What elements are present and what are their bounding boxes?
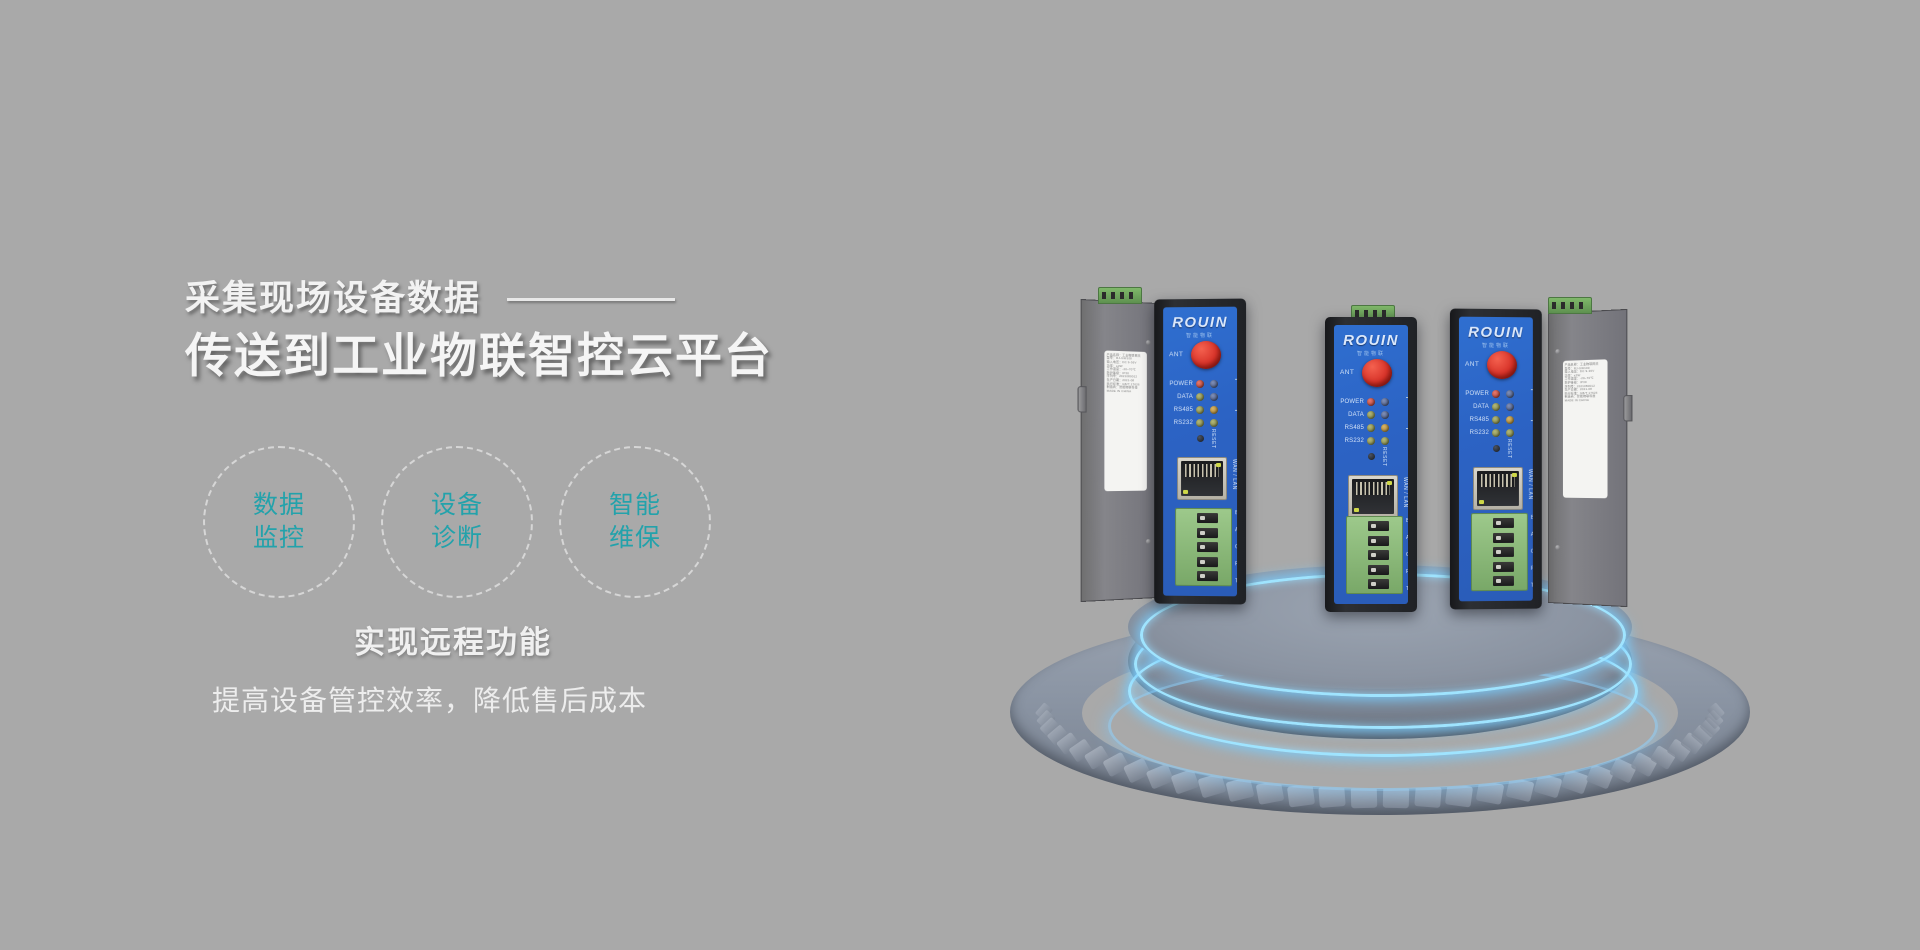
led-indicator-lamp	[1506, 403, 1514, 411]
device-blue-faceplate: ROUIN智能物联ANTPOWERDATARS485RS232STATUSRES…	[1163, 307, 1237, 597]
terminal-screw	[1368, 521, 1389, 531]
terminal-screw	[1493, 518, 1514, 528]
led-indicator-row: POWER	[1463, 387, 1520, 400]
led-indicator-lamp	[1492, 389, 1500, 397]
status-group-bracket	[1531, 389, 1533, 421]
led-indicator-row: POWER	[1338, 395, 1395, 408]
feature-circle-line1: 智能	[609, 489, 661, 522]
brand-logo: ROUIN智能物联	[1343, 332, 1399, 357]
led-indicator-row: DATA	[1338, 408, 1395, 421]
reset-button-label: RESET	[1381, 447, 1387, 467]
terminal-pin-label: A+	[1531, 532, 1533, 538]
rj45-link-led	[1354, 508, 1359, 512]
enclosure-screw	[1555, 349, 1560, 354]
device-spec-label-line: MADE IN CHINA	[1565, 399, 1606, 403]
led-indicator-lamp	[1210, 392, 1218, 400]
serial-terminal-block	[1346, 516, 1403, 594]
terminal-pin-label: TXD	[1406, 586, 1408, 592]
terminal-screw	[1493, 561, 1514, 571]
antenna-connector-cap[interactable]	[1362, 359, 1392, 387]
led-indicator-row: RS232	[1463, 426, 1520, 439]
headline-secondary: 传送到工业物联智控云平台	[185, 329, 845, 383]
rj45-link-led	[1183, 490, 1188, 494]
iot-gateway-device: 产品名称：工业物联网关型号：RJ-GW100输入电压：DC 9-36V功率：≤3…	[1080, 285, 1254, 620]
ethernet-rj45-port	[1473, 467, 1523, 510]
reset-button[interactable]	[1197, 435, 1204, 442]
feature-circle-line2: 诊断	[431, 522, 483, 555]
rj45-activity-led	[1216, 463, 1221, 467]
led-indicator-label: DATA	[1338, 412, 1367, 418]
terminal-pin-label: A+	[1406, 535, 1408, 541]
terminal-pin-label: TXD	[1531, 583, 1533, 589]
reset-button[interactable]	[1368, 453, 1375, 460]
feature-circle-smart-maintenance[interactable]: 智能 维保	[559, 446, 711, 598]
terminal-screw	[1493, 547, 1514, 557]
din-rail-clip	[1623, 395, 1632, 422]
led-indicator-grid: POWERDATARS485RS232	[1338, 395, 1395, 447]
led-indicator-label: RS232	[1167, 420, 1196, 426]
antenna-port-label: ANT	[1340, 369, 1354, 376]
rj45-cavity	[1181, 461, 1223, 496]
antenna-connector-cap[interactable]	[1487, 351, 1517, 379]
terminal-pin-label: B-	[1235, 510, 1237, 516]
terminal-screw	[1197, 513, 1218, 523]
led-indicator-lamp	[1367, 424, 1375, 432]
feature-circle-line1: 设备	[431, 489, 483, 522]
led-indicator-row: RS232	[1167, 416, 1224, 429]
ethernet-port-label: WAN / LAN	[1402, 477, 1408, 508]
terminal-screw	[1368, 536, 1389, 546]
device-front-body: ROUIN智能物联ANTPOWERDATARS485RS232STATUSRES…	[1450, 309, 1542, 610]
led-indicator-row: RS485	[1338, 421, 1395, 434]
led-indicator-grid: POWERDATARS485RS232	[1463, 387, 1520, 439]
terminal-screw	[1197, 556, 1218, 566]
led-indicator-row: DATA	[1167, 390, 1224, 403]
feature-circle-data-monitoring[interactable]: 数据 监控	[203, 446, 355, 598]
ethernet-rj45-port	[1348, 475, 1398, 518]
brand-subtitle: 智能物联	[1468, 342, 1524, 349]
led-indicator-label: RS485	[1167, 407, 1196, 413]
terminal-pin-label: GND	[1406, 552, 1408, 558]
led-indicator-label: POWER	[1338, 399, 1367, 405]
terminal-pin-label: A+	[1235, 527, 1237, 533]
brand-logo: ROUIN智能物联	[1172, 314, 1228, 339]
terminal-block-labels: B-A+GNDRXDTXD	[1406, 518, 1408, 592]
reset-button-label: RESET	[1506, 439, 1512, 459]
enclosure-screw	[1555, 545, 1560, 550]
device-power-terminal-top	[1548, 297, 1592, 314]
terminal-screw	[1368, 565, 1389, 575]
led-indicator-grid: POWERDATARS485RS232	[1167, 377, 1224, 429]
led-indicator-row: RS485	[1463, 413, 1520, 426]
terminal-screw	[1197, 571, 1218, 581]
feature-circle-line2: 维保	[609, 522, 661, 555]
rj45-contact-pins	[1356, 482, 1390, 495]
led-indicator-label: RS232	[1463, 429, 1492, 435]
headline-primary: 采集现场设备数据	[185, 280, 481, 319]
terminal-block-labels: B-A+GNDRXDTXD	[1235, 510, 1237, 584]
terminal-pin-label: TXD	[1235, 578, 1237, 584]
ethernet-port-label: WAN / LAN	[1527, 469, 1533, 500]
led-indicator-row: POWER	[1167, 377, 1224, 390]
terminal-pin-label: RXD	[1235, 561, 1237, 567]
serial-terminal-block	[1471, 513, 1528, 591]
led-indicator-label: POWER	[1463, 390, 1492, 396]
subhead-text: 实现远程功能	[354, 617, 552, 662]
terminal-screw	[1368, 579, 1389, 589]
rj45-link-led	[1479, 500, 1484, 504]
device-front-body: ROUIN智能物联ANTPOWERDATARS485RS232STATUSRES…	[1154, 299, 1246, 605]
terminal-pin-label: GND	[1531, 549, 1533, 555]
device-power-terminal-top	[1098, 287, 1142, 304]
led-indicator-lamp	[1210, 379, 1218, 387]
status-group-bracket	[1235, 379, 1237, 411]
led-indicator-lamp	[1381, 437, 1389, 445]
led-indicator-lamp	[1210, 418, 1218, 426]
led-indicator-row: DATA	[1463, 400, 1520, 413]
terminal-pin-label: B-	[1406, 518, 1408, 524]
antenna-port-label: ANT	[1169, 351, 1183, 358]
terminal-screw	[1197, 527, 1218, 537]
headline-divider-rule	[507, 298, 675, 301]
enclosure-screw	[1146, 539, 1151, 544]
led-indicator-lamp	[1506, 416, 1514, 424]
copy-block: 采集现场设备数据 传送到工业物联智控云平台	[185, 280, 845, 383]
rj45-activity-led	[1387, 481, 1392, 485]
rj45-contact-pins	[1185, 464, 1219, 477]
led-indicator-lamp	[1381, 398, 1389, 406]
led-indicator-lamp	[1210, 405, 1218, 413]
reset-button[interactable]	[1493, 445, 1500, 452]
iot-gateway-device: ROUIN智能物联ANTPOWERDATARS485RS232STATUSRES…	[1325, 303, 1421, 628]
enclosure-screw	[1146, 340, 1151, 345]
led-indicator-lamp	[1381, 411, 1389, 419]
led-indicator-lamp	[1196, 379, 1204, 387]
led-indicator-lamp	[1367, 411, 1375, 419]
reset-button-label: RESET	[1210, 429, 1216, 449]
terminal-pin-label: B-	[1531, 515, 1533, 521]
led-indicator-label: RS232	[1338, 438, 1367, 444]
device-metal-enclosure: 产品名称：工业物联网关型号：RJ-GW100输入电压：DC 9-36V功率：≤3…	[1081, 299, 1157, 602]
device-metal-enclosure: 产品名称：工业物联网关型号：RJ-GW100输入电压：DC 9-36V功率：≤3…	[1548, 309, 1628, 607]
rj45-cavity	[1477, 471, 1519, 506]
brand-name: ROUIN	[1468, 324, 1524, 341]
feature-circle-line2: 监控	[253, 522, 305, 555]
rj45-cavity	[1352, 479, 1394, 514]
device-spec-label-line: MADE IN CHINA	[1107, 389, 1145, 393]
led-indicator-label: DATA	[1167, 394, 1196, 400]
terminal-screw	[1493, 576, 1514, 586]
rj45-contact-pins	[1481, 474, 1515, 487]
ethernet-port-label: WAN / LAN	[1231, 459, 1237, 490]
banner-stage: 采集现场设备数据 传送到工业物联智控云平台 数据 监控 设备 诊断 智能 维保 …	[0, 0, 1920, 950]
led-indicator-lamp	[1506, 429, 1514, 437]
feature-circle-line1: 数据	[253, 489, 305, 522]
tagline-text: 提高设备管控效率，降低售后成本	[212, 679, 647, 719]
terminal-screw	[1197, 542, 1218, 552]
din-rail-clip	[1078, 386, 1087, 413]
device-blue-faceplate: ROUIN智能物联ANTPOWERDATARS485RS232STATUSRES…	[1334, 325, 1408, 604]
terminal-pin-label: RXD	[1531, 566, 1533, 572]
led-indicator-lamp	[1492, 428, 1500, 436]
status-group-bracket	[1406, 397, 1408, 429]
antenna-connector-cap[interactable]	[1191, 341, 1221, 369]
led-indicator-row: RS232	[1338, 434, 1395, 447]
iot-gateway-device: 产品名称：工业物联网关型号：RJ-GW100输入电压：DC 9-36V功率：≤3…	[1450, 295, 1628, 625]
led-indicator-label: DATA	[1463, 403, 1492, 409]
brand-name: ROUIN	[1172, 314, 1228, 331]
terminal-pin-label: GND	[1235, 544, 1237, 550]
terminal-screw	[1493, 532, 1514, 542]
led-indicator-lamp	[1367, 398, 1375, 406]
brand-name: ROUIN	[1343, 332, 1399, 349]
serial-terminal-block	[1175, 508, 1232, 586]
device-spec-label: 产品名称：工业物联网关型号：RJ-GW100输入电压：DC 9-36V功率：≤3…	[1563, 359, 1607, 498]
rj45-activity-led	[1512, 473, 1517, 477]
feature-circle-device-diagnosis[interactable]: 设备 诊断	[381, 446, 533, 598]
ethernet-rj45-port	[1177, 457, 1227, 500]
led-indicator-lamp	[1492, 402, 1500, 410]
brand-subtitle: 智能物联	[1172, 332, 1228, 339]
terminal-pin-label: RXD	[1406, 569, 1408, 575]
led-indicator-row: RS485	[1167, 403, 1224, 416]
led-indicator-lamp	[1506, 390, 1514, 398]
terminal-screw	[1368, 550, 1389, 560]
led-indicator-lamp	[1196, 418, 1204, 426]
feature-circle-list: 数据 监控 设备 诊断 智能 维保	[203, 446, 711, 598]
brand-subtitle: 智能物联	[1343, 350, 1399, 357]
device-spec-label: 产品名称：工业物联网关型号：RJ-GW100输入电压：DC 9-36V功率：≤3…	[1105, 350, 1147, 491]
brand-logo: ROUIN智能物联	[1468, 324, 1524, 349]
device-blue-faceplate: ROUIN智能物联ANTPOWERDATARS485RS232STATUSRES…	[1459, 317, 1533, 602]
led-indicator-lamp	[1381, 424, 1389, 432]
led-indicator-lamp	[1367, 437, 1375, 445]
led-indicator-label: RS485	[1463, 416, 1492, 422]
device-group: 产品名称：工业物联网关型号：RJ-GW100输入电压：DC 9-36V功率：≤3…	[1080, 255, 1640, 635]
led-indicator-lamp	[1492, 415, 1500, 423]
led-indicator-lamp	[1196, 392, 1204, 400]
device-front-body: ROUIN智能物联ANTPOWERDATARS485RS232STATUSRES…	[1325, 317, 1417, 612]
headline-row: 采集现场设备数据	[185, 280, 845, 319]
led-indicator-label: POWER	[1167, 381, 1196, 387]
terminal-block-labels: B-A+GNDRXDTXD	[1531, 515, 1533, 589]
antenna-port-label: ANT	[1465, 361, 1479, 368]
led-indicator-lamp	[1196, 405, 1204, 413]
led-indicator-label: RS485	[1338, 425, 1367, 431]
